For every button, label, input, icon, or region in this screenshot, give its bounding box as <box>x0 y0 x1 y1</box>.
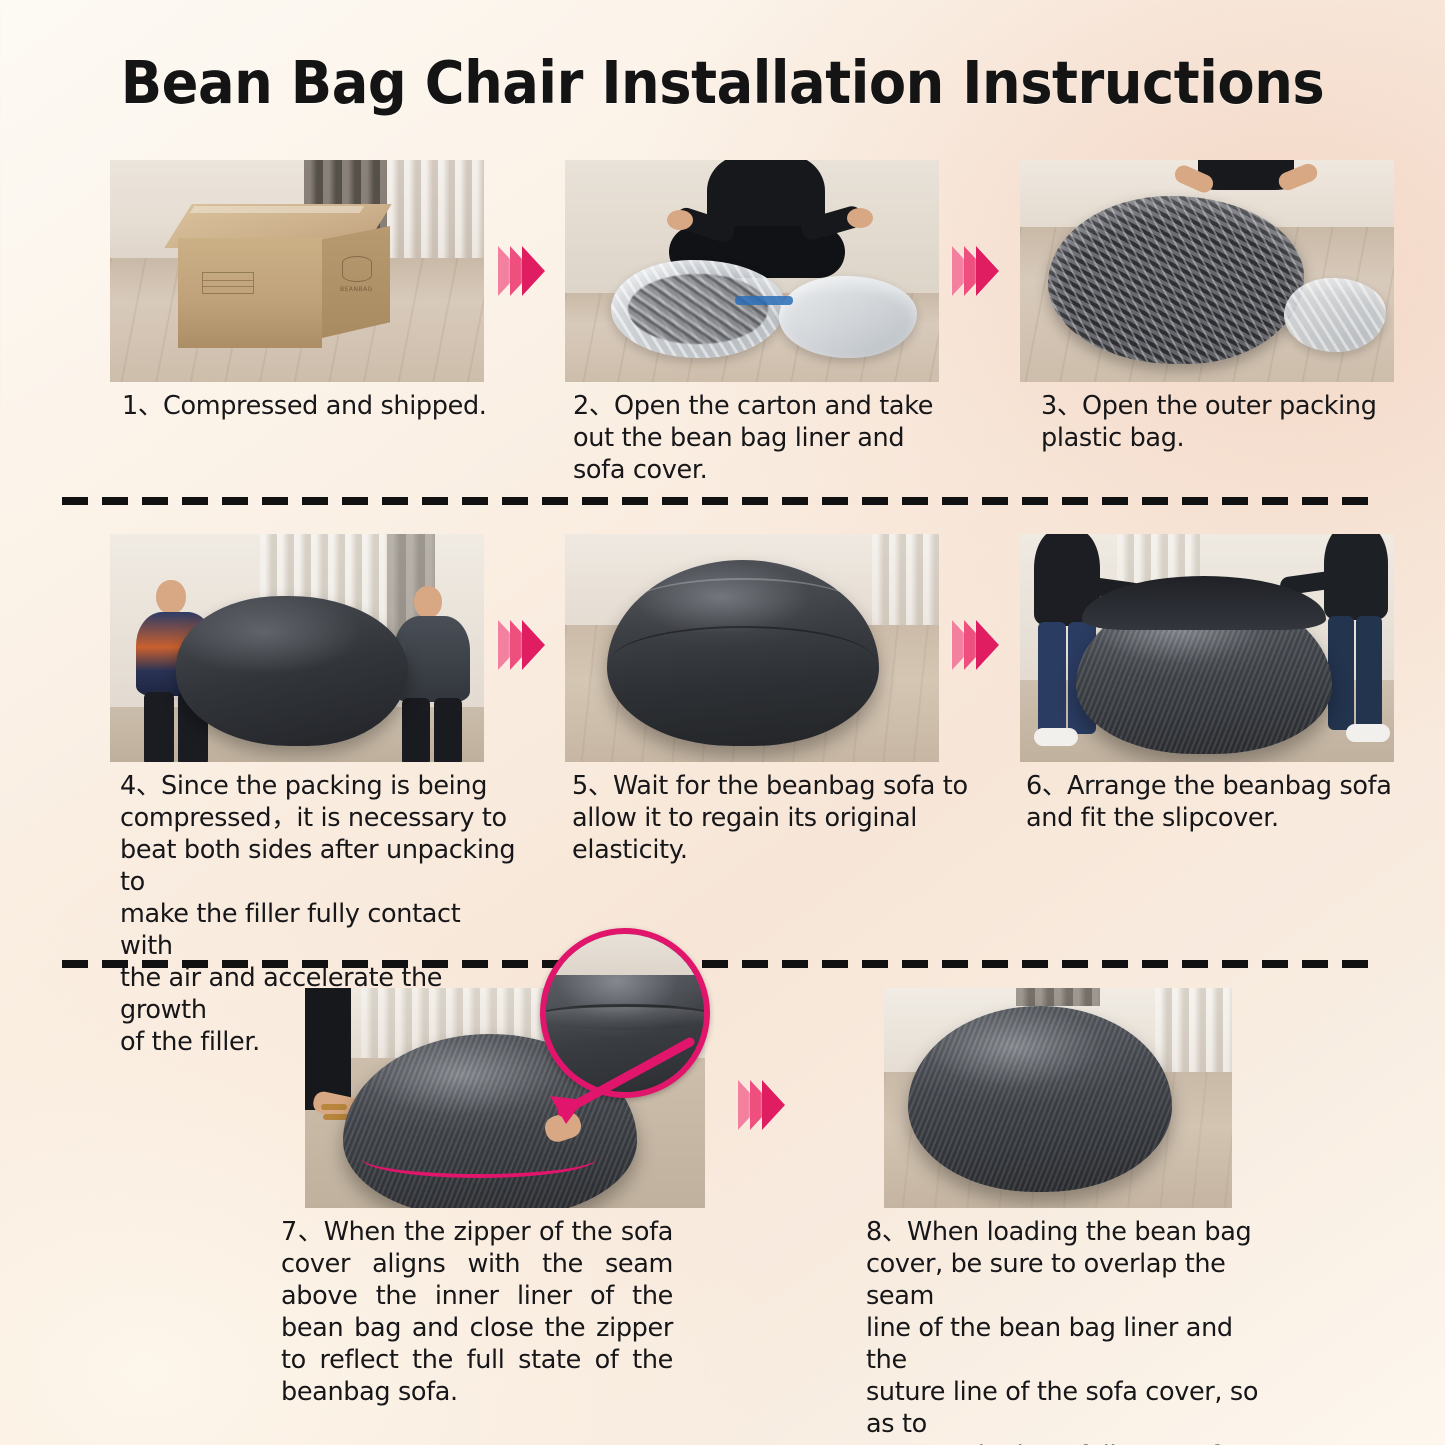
vacuum-bag-liner <box>611 260 785 358</box>
secondary-plastic-bag <box>1284 278 1386 352</box>
chevron-right-icon <box>762 1080 785 1130</box>
photo-step3-opening-plastic-wrap <box>1020 160 1394 382</box>
caption-step-3: 3、Open the outer packing plastic bag. <box>1041 390 1421 454</box>
photo-step2-person-unpacking-vacuum-bags <box>565 160 939 382</box>
photo-step8-finished-bean-bag-chair <box>884 988 1232 1208</box>
photo-step5-liner-regaining-shape <box>565 534 939 762</box>
arrow-step2-to-step3 <box>952 246 999 296</box>
divider-row1-row2 <box>62 497 1382 505</box>
caption-step-2: 2、Open the carton and take out the bean … <box>573 390 963 486</box>
arrow-step1-to-step2 <box>498 246 545 296</box>
photo-step1-cardboard-carton-on-floor: BEANBAG <box>110 160 484 382</box>
chevron-right-icon <box>976 246 999 296</box>
photo-step4-two-people-beating-liner <box>110 534 484 762</box>
chevron-right-icon <box>976 620 999 670</box>
caption-step-6: 6、Arrange the beanbag sofa and fit the s… <box>1026 770 1426 834</box>
caption-step-7: 7、When the zipper of the sofa cover alig… <box>281 1216 673 1408</box>
finished-bean-bag-chair <box>908 1006 1172 1192</box>
callout-pointer-arrow <box>520 1030 710 1160</box>
chevron-right-icon <box>522 620 545 670</box>
page-title: Bean Bag Chair Installation Instructions <box>58 48 1387 117</box>
bean-bag-liner-held <box>176 596 408 746</box>
vacuum-valve-strip <box>735 296 793 305</box>
arrow-step7-to-step8 <box>738 1080 785 1130</box>
box-logo-text: BEANBAG <box>340 286 373 293</box>
caption-step-1: 1、Compressed and shipped. <box>122 390 522 422</box>
infographic-page: Bean Bag Chair Installation Instructions… <box>0 0 1445 1445</box>
arrow-step5-to-step6 <box>952 620 999 670</box>
chevron-right-icon <box>522 246 545 296</box>
divider-row2-row3 <box>62 960 1382 968</box>
wrapped-liner-bundle <box>1048 196 1304 364</box>
arrow-step4-to-step5 <box>498 620 545 670</box>
caption-step-5: 5、Wait for the beanbag sofa to allow it … <box>572 770 972 866</box>
caption-step-8: 8、When loading the bean bag cover, be su… <box>866 1216 1266 1445</box>
photo-step6-fitting-the-slipcover <box>1020 534 1394 762</box>
vacuum-bag-cover <box>779 276 917 358</box>
